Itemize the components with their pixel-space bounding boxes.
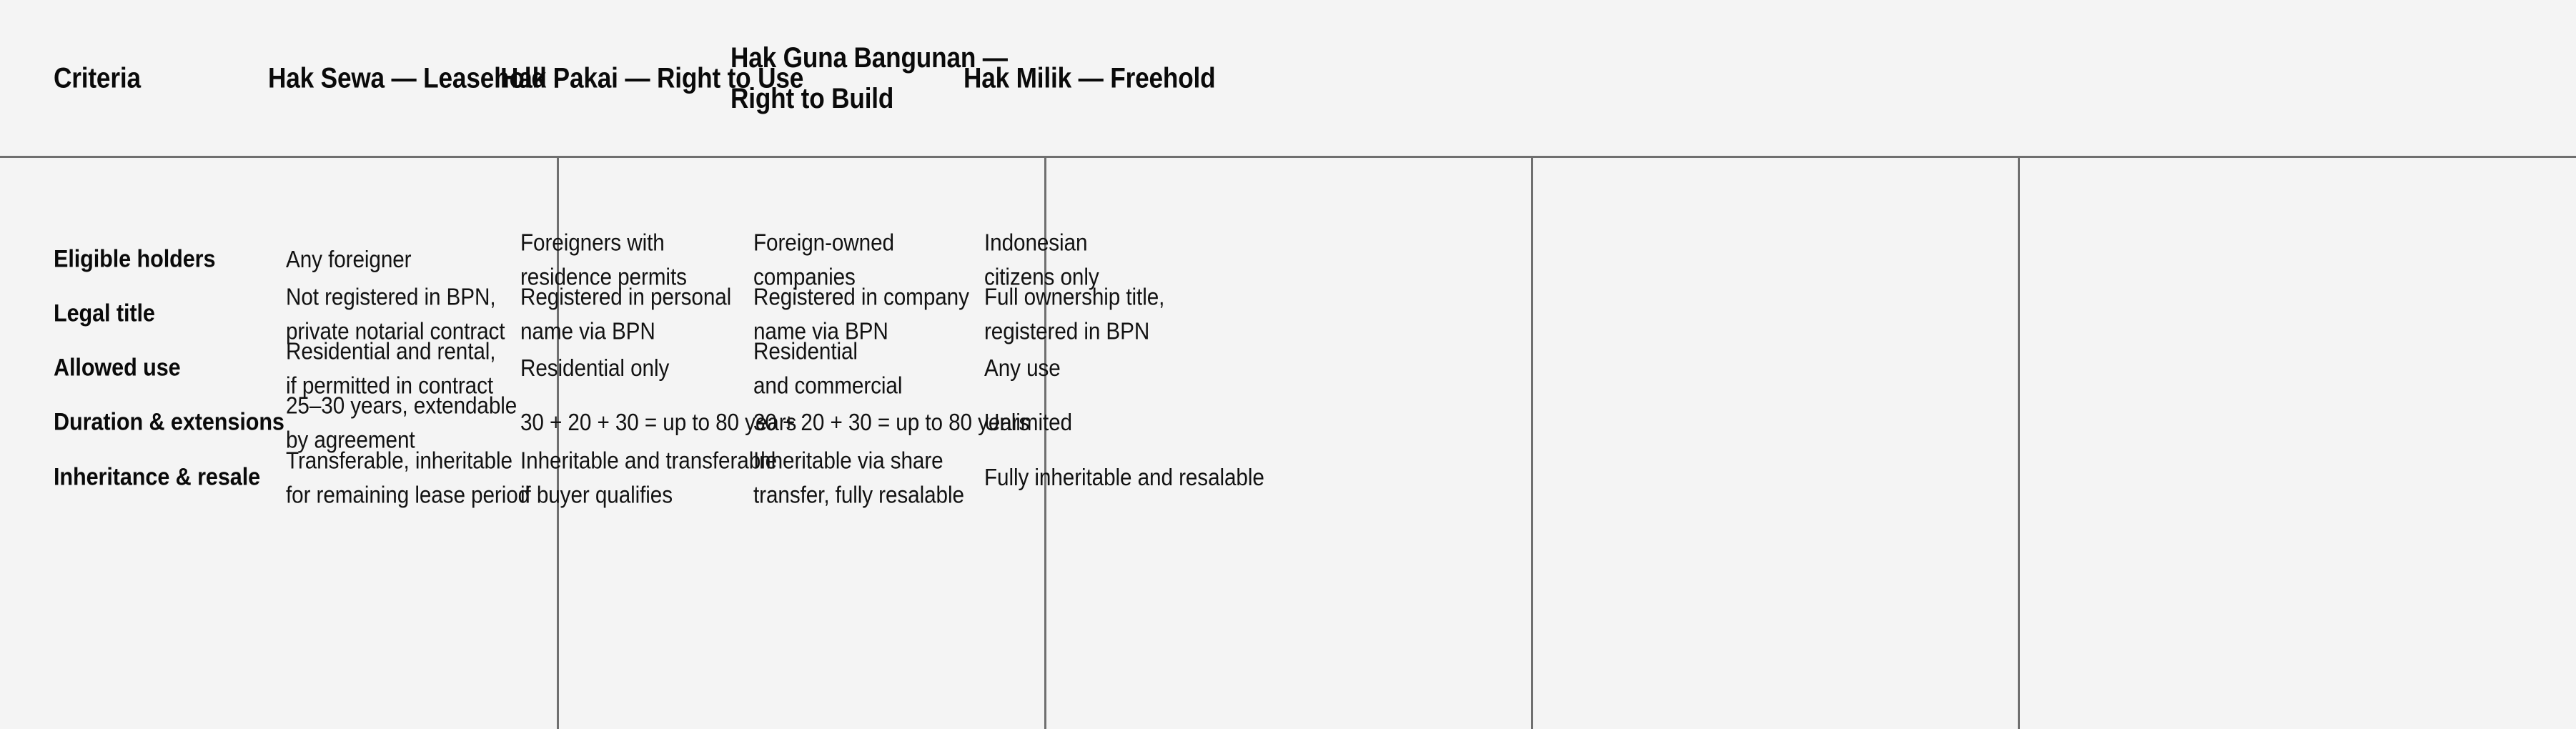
- cell-hak_milik: Fully inheritable and resalable: [984, 460, 1264, 495]
- column-header-criteria: Criteria: [54, 59, 141, 99]
- cell-hak_sewa: Any foreigner: [286, 242, 411, 277]
- comparison-table-page: CriteriaHak Sewa — LeaseholdHak Pakai — …: [0, 0, 2576, 729]
- table-body: Eligible holdersAny foreignerForeigners …: [0, 158, 2576, 729]
- cell-hak_milik: Unlimited: [984, 405, 1072, 440]
- cell-hak_guna_bangunan: Inheritable via share transfer, fully re…: [753, 443, 964, 511]
- cell-hak_pakai: Registered in personal name via BPN: [520, 279, 731, 347]
- row-label-criteria: Inheritance & resale: [54, 460, 260, 495]
- cell-hak_milik: Full ownership title, registered in BPN: [984, 279, 1164, 347]
- cell-hak_milik: Any use: [984, 351, 1061, 385]
- table-header-row: CriteriaHak Sewa — LeaseholdHak Pakai — …: [0, 0, 2576, 157]
- row-label-criteria: Duration & extensions: [54, 405, 284, 440]
- row-label-criteria: Allowed use: [54, 351, 181, 386]
- row-label-criteria: Legal title: [54, 297, 155, 332]
- column-header-hak_milik: Hak Milik — Freehold: [963, 59, 1215, 99]
- cell-hak_pakai: Residential only: [520, 351, 669, 385]
- cell-hak_pakai: Inheritable and transferable if buyer qu…: [520, 443, 777, 511]
- row-label-criteria: Eligible holders: [54, 242, 215, 277]
- cell-hak_guna_bangunan: Residential and commercial: [753, 334, 902, 402]
- cell-hak_sewa: Transferable, inheritable for remaining …: [286, 443, 530, 511]
